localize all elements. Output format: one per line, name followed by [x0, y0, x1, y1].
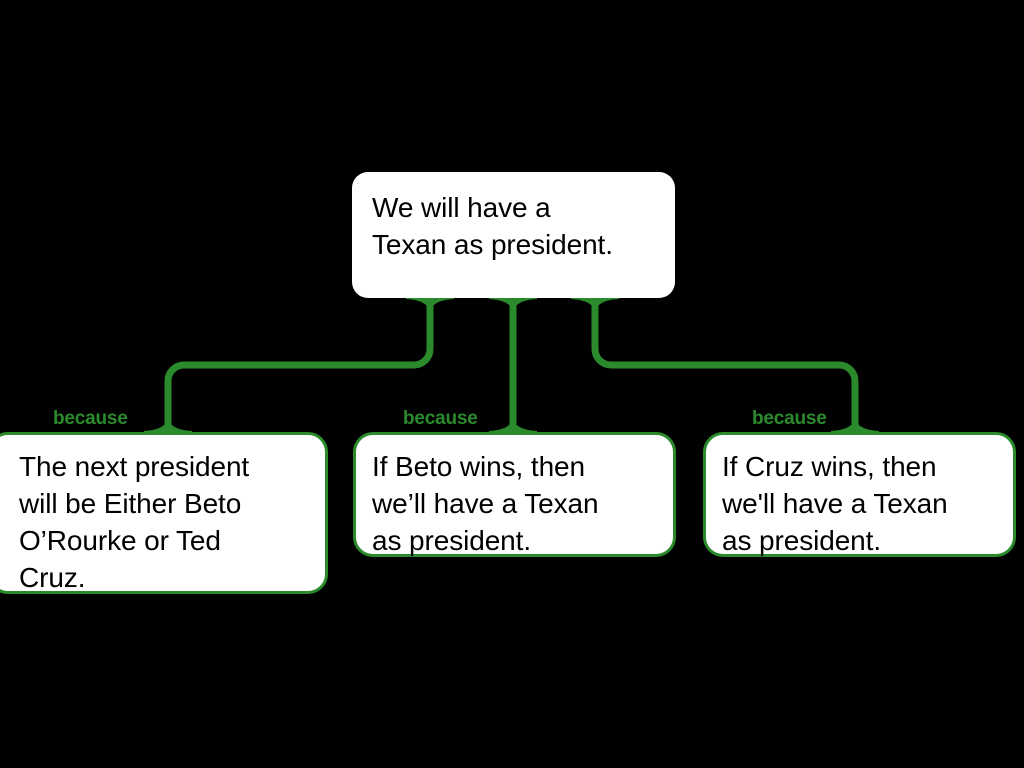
premise-node-1-text: The next president will be Either Beto O…	[19, 449, 249, 597]
premise-node-2[interactable]: If Beto wins, then we’ll have a Texan as…	[353, 432, 676, 557]
premise-node-2-text: If Beto wins, then we’ll have a Texan as…	[372, 449, 599, 560]
argument-map-canvas: We will have a Texan as president. The n…	[0, 0, 1024, 768]
edge-label-because-3[interactable]: because	[752, 409, 827, 428]
edge-root-to-premise-3	[571, 294, 879, 436]
edge-root-to-premise-2	[489, 294, 537, 436]
premise-node-3-text: If Cruz wins, then we'll have a Texan as…	[722, 449, 948, 560]
premise-node-3[interactable]: If Cruz wins, then we'll have a Texan as…	[703, 432, 1016, 557]
conclusion-node-text: We will have a Texan as president.	[372, 190, 613, 264]
conclusion-node[interactable]: We will have a Texan as president.	[352, 172, 675, 298]
edge-label-because-2[interactable]: because	[403, 409, 478, 428]
edge-label-because-1[interactable]: because	[53, 409, 128, 428]
connector-layer	[0, 0, 1024, 768]
premise-node-1[interactable]: The next president will be Either Beto O…	[0, 432, 328, 594]
